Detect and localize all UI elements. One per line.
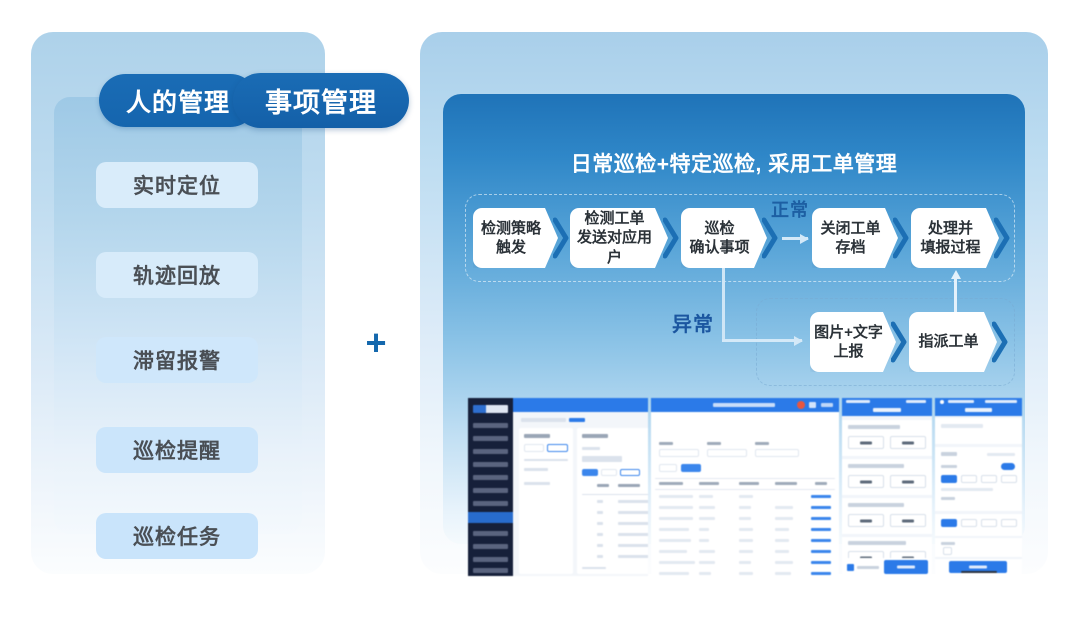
sidebar-item-label: 滞留报警 [133,345,221,375]
mockup-mobile-form[interactable] [935,398,1022,576]
sidebar-item-label: 巡检提醒 [133,435,221,465]
branch-label-abnormal: 异常 [672,308,714,337]
mockup-mobile-statusbar [935,398,1022,416]
mockup-mobile-content [935,416,1022,576]
sidebar-item-stay-alarm[interactable]: 滞留报警 [96,337,258,383]
flow-step-line2: 上报 [833,343,863,360]
mockup-content [513,412,648,576]
mockup-admin-dashboard[interactable] [468,398,648,576]
flow-step-line1: 检测工单 [584,210,644,227]
flow-step-line1: 处理并 [928,220,973,237]
mockup-home-indicator [961,571,997,573]
plus-icon: + [328,325,424,361]
mockup-mobile-content [842,416,932,576]
mockup-logo [473,405,508,413]
flow-step-process-and-report[interactable]: 处理并填报过程 [911,208,999,268]
mockup-mobile-checklist[interactable] [842,398,932,576]
flow-step-assign-work-order[interactable]: 指派工单 [909,312,997,372]
flow-step-line1: 关闭工单 [820,220,880,237]
sidebar-item-track-playback[interactable]: 轨迹回放 [96,252,258,298]
flow-step-line2: 填报过程 [920,239,980,256]
flow-step-line1: 指派工单 [918,332,978,351]
mockup-content [651,412,839,576]
flow-step-line2: 触发 [496,239,526,256]
sidebar-item-inspection-reminder[interactable]: 巡检提醒 [96,427,258,473]
flow-step-line2: 确认事项 [689,239,749,256]
infographic-stage: 人的管理 实时定位 轨迹回放 滞留报警 巡检提醒 巡检任务 〈工单〉 + 事项管… [0,0,1080,640]
flow-step-inspection-confirm[interactable]: 巡检确认事项 [681,208,767,268]
right-panel-subtitle: 日常巡检+特定巡检, 采用工单管理 [420,148,1048,178]
flow-step-send-order-to-user[interactable]: 检测工单发送对应用户 [570,208,668,268]
sidebar-item-label: 巡检任务 [133,521,221,551]
mockup-work-order-table[interactable] [651,398,839,576]
flow-step-close-order-archive[interactable]: 关闭工单存档 [812,208,898,268]
mockup-sidebar [468,398,513,576]
flow-step-line2: 发送对应用户 [577,229,652,265]
mockup-topbar [513,398,648,412]
flow-step-line1: 检测策略 [481,220,541,237]
flow-step-line1: 图片+文字 [814,324,883,341]
sidebar-item-realtime-location[interactable]: 实时定位 [96,162,258,208]
connector-down-from-inspection [722,268,725,340]
mockup-topbar [651,398,839,412]
product-screenshot-strip [468,398,1022,576]
arrow-normal-icon [782,237,808,240]
flow-step-detect-policy-trigger[interactable]: 检测策略触发 [473,208,558,268]
sidebar-item-label: 实时定位 [133,170,221,200]
sidebar-item-label: 轨迹回放 [133,260,221,290]
branch-label-normal: 正常 [771,196,809,222]
arrow-abnormal-icon [722,339,802,342]
right-panel-title: 事项管理 [233,73,409,128]
flow-step-line2: 存档 [835,239,865,256]
sidebar-item-inspection-task[interactable]: 巡检任务 [96,513,258,559]
mockup-mobile-statusbar [842,398,932,416]
flow-step-line1: 巡检 [704,220,734,237]
flow-step-photo-text-report[interactable]: 图片+文字上报 [810,312,896,372]
